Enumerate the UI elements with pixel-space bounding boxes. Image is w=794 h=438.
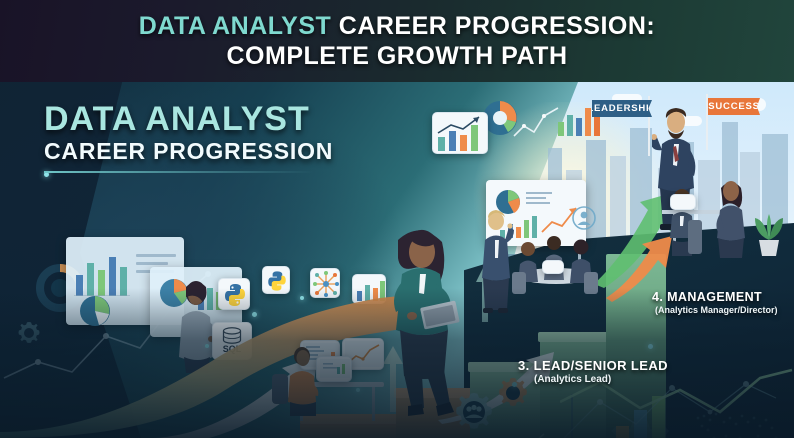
laptop-meeting [542,260,564,274]
stage-3-subtitle: (Analytics Lead) [534,374,668,385]
stage-3-title: 3. LEAD/SENIOR LEAD [518,358,668,373]
person-standing-colleague [714,178,748,258]
stage-4-title: 4. MANAGEMENT [652,290,778,304]
stage-label-management: 4. MANAGEMENT (Analytics Manager/Directo… [652,290,778,315]
office-chair-4 [688,220,702,254]
user-avatar-icon [572,206,596,230]
banner-success: SUCCESS [708,98,760,115]
header-subtitle: COMPLETE GROWTH PATH [227,41,568,71]
banner-success-label: SUCCESS [708,101,760,112]
banner-leadership-label: LEADERSHIP [587,103,656,114]
header-title-rest: CAREER PROGRESSION: [339,12,655,40]
poster-title-line-2: CAREER PROGRESSION [44,138,333,165]
stage-4-subtitle: (Analytics Manager/Director) [655,305,778,315]
header-banner: DATA ANALYST CAREER PROGRESSION: COMPLET… [0,0,794,82]
potted-plant [752,206,786,256]
infographic-page: DATA ANALYST CAREER PROGRESSION: COMPLET… [0,0,794,438]
person-team-member-2 [542,234,566,284]
header-title-line-1: DATA ANALYST CAREER PROGRESSION: [139,11,656,41]
illustration-canvas: SQL [0,82,794,438]
top-line-chart [512,106,562,140]
banner-leadership: LEADERSHIP [592,100,652,117]
laptop-management [670,194,696,210]
poster-title-line-1: DATA ANALYST [44,100,333,138]
stage-label-lead: 3. LEAD/SENIOR LEAD (Analytics Lead) [518,358,668,385]
dashboard-text-2 [136,262,168,265]
growth-chart-bubble [432,112,488,154]
poster-title: DATA ANALYST CAREER PROGRESSION [44,100,333,173]
poster-title-rule [44,171,314,173]
success-flag-pole [706,94,708,150]
dashboard-text-1 [136,254,176,257]
header-title-highlight: DATA ANALYST [139,12,332,40]
